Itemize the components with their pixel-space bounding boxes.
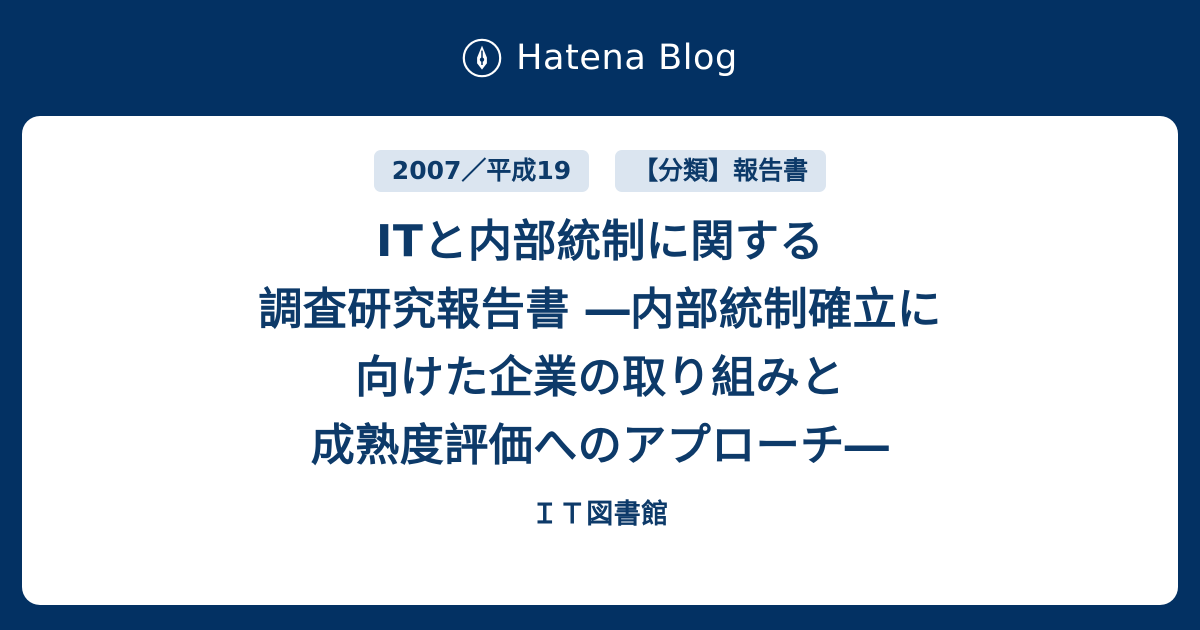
tag-item-year[interactable]: 2007／平成19 bbox=[374, 150, 589, 192]
entry-title: ITと内部統制に関する 調査研究報告書 ―内部統制確立に 向けた企業の取り組みと… bbox=[258, 208, 941, 480]
brand-name: Hatena Blog bbox=[516, 41, 738, 76]
blog-name: ＩＴ図書館 bbox=[531, 501, 669, 528]
entry-title-line-1: ITと内部統制に関する bbox=[258, 208, 941, 276]
hatena-pen-nib-icon bbox=[462, 38, 502, 78]
hatena-blog-brand-bar: Hatena Blog bbox=[0, 0, 1200, 116]
entry-title-line-2: 調査研究報告書 ―内部統制確立に bbox=[258, 276, 941, 344]
entry-title-line-4: 成熟度評価へのアプローチ― bbox=[258, 412, 941, 480]
entry-title-line-3: 向けた企業の取り組みと bbox=[258, 344, 941, 412]
entry-card: 2007／平成19 【分類】報告書 ITと内部統制に関する 調査研究報告書 ―内… bbox=[22, 116, 1178, 605]
og-image-canvas: Hatena Blog 2007／平成19 【分類】報告書 ITと内部統制に関す… bbox=[0, 0, 1200, 630]
tag-item-category[interactable]: 【分類】報告書 bbox=[615, 150, 826, 192]
tag-list: 2007／平成19 【分類】報告書 bbox=[374, 150, 826, 192]
